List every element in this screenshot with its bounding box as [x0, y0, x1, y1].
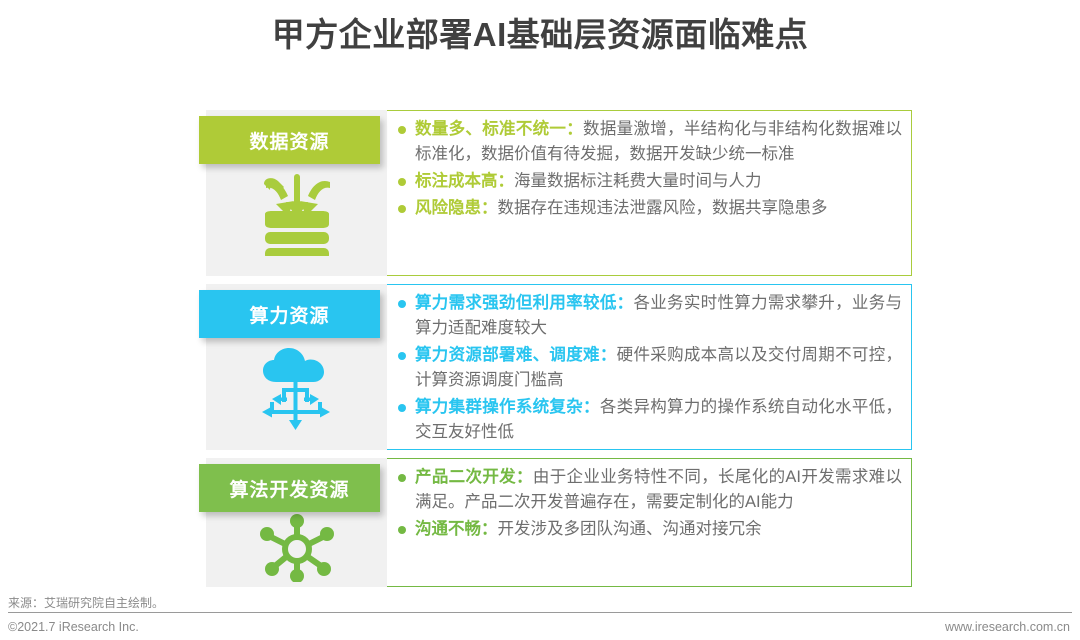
block-right-content: 数量多、标准不统一：数据量激增，半结构化与非结构化数据难以标准化，数据价值有待发…: [387, 110, 912, 276]
bullet-list: 数量多、标准不统一：数据量激增，半结构化与非结构化数据难以标准化，数据价值有待发…: [395, 117, 902, 221]
bullet-body: 海量数据标注耗费大量时间与人力: [514, 172, 762, 190]
block-data-resource: 数据资源: [206, 110, 912, 276]
bullet-head: 沟通不畅：: [415, 520, 498, 538]
block-left-panel: 数据资源: [206, 110, 387, 276]
bullet-list: 产品二次开发：由于企业业务特性不同，长尾化的AI开发需求难以满足。产品二次开发普…: [395, 465, 902, 542]
block-left-panel: 算法开发资源: [206, 458, 387, 587]
cloud-distribute-icon: [206, 342, 387, 432]
list-item: 标注成本高：海量数据标注耗费大量时间与人力: [395, 169, 902, 194]
bullet-body: 开发涉及多团队沟通、沟通对接冗余: [498, 520, 762, 538]
molecule-network-icon: [206, 514, 387, 582]
list-item: 产品二次开发：由于企业业务特性不同，长尾化的AI开发需求难以满足。产品二次开发普…: [395, 465, 902, 515]
bullet-list: 算力需求强劲但利用率较低：各业务实时性算力需求攀升，业务与算力适配难度较大 算力…: [395, 291, 902, 445]
bullet-head: 数量多、标准不统一：: [415, 120, 583, 138]
bullet-head: 算力资源部署难、调度难：: [415, 346, 617, 364]
bullet-head: 算力集群操作系统复杂：: [415, 398, 600, 416]
list-item: 数量多、标准不统一：数据量激增，半结构化与非结构化数据难以标准化，数据价值有待发…: [395, 117, 902, 167]
list-item: 算力需求强劲但利用率较低：各业务实时性算力需求攀升，业务与算力适配难度较大: [395, 291, 902, 341]
website-link[interactable]: www.iresearch.com.cn: [945, 619, 1070, 635]
bullet-body: 数据存在违规违法泄露风险，数据共享隐患多: [498, 199, 828, 217]
source-note: 来源：艾瑞研究院自主绘制。: [8, 596, 164, 611]
block-left-panel: 算力资源: [206, 284, 387, 450]
block-label-compute-resource[interactable]: 算力资源: [199, 290, 380, 338]
list-item: 沟通不畅：开发涉及多团队沟通、沟通对接冗余: [395, 517, 902, 542]
block-label-data-resource[interactable]: 数据资源: [199, 116, 380, 164]
block-algorithm-resource: 算法开发资源: [206, 458, 912, 587]
block-right-content: 产品二次开发：由于企业业务特性不同，长尾化的AI开发需求难以满足。产品二次开发普…: [387, 458, 912, 587]
list-item: 风险隐患：数据存在违规违法泄露风险，数据共享隐患多: [395, 196, 902, 221]
content-blocks: 数据资源: [206, 110, 912, 595]
block-label-algorithm-resource[interactable]: 算法开发资源: [199, 464, 380, 512]
bullet-head: 产品二次开发：: [415, 468, 533, 486]
list-item: 算力资源部署难、调度难：硬件采购成本高以及交付周期不可控，计算资源调度门槛高: [395, 343, 902, 393]
copyright-text: ©2021.7 iResearch Inc.: [8, 619, 139, 635]
database-inflow-icon: [206, 168, 387, 256]
bullet-head: 标注成本高：: [415, 172, 514, 190]
block-compute-resource: 算力资源: [206, 284, 912, 450]
bullet-head: 风险隐患：: [415, 199, 498, 217]
bullet-head: 算力需求强劲但利用率较低：: [415, 294, 633, 312]
page-title: 甲方企业部署AI基础层资源面临难点: [0, 12, 1080, 58]
list-item: 算力集群操作系统复杂：各类异构算力的操作系统自动化水平低，交互友好性低: [395, 395, 902, 445]
block-right-content: 算力需求强劲但利用率较低：各业务实时性算力需求攀升，业务与算力适配难度较大 算力…: [387, 284, 912, 450]
footer-divider: [8, 612, 1072, 613]
